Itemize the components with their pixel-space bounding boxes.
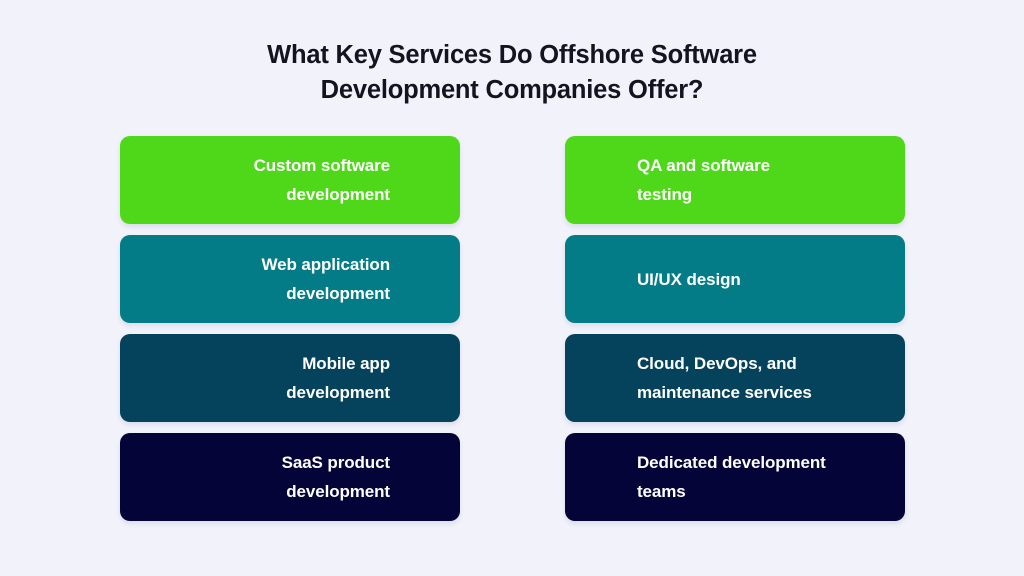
service-column-right: QA and software testing UI/UX design Clo… — [565, 136, 905, 521]
service-card-label: Cloud, DevOps, and maintenance services — [637, 349, 812, 407]
service-column-left: Custom software development Web applicat… — [120, 136, 460, 521]
service-card[interactable]: SaaS product development — [120, 433, 460, 521]
service-card[interactable]: UI/UX design — [565, 235, 905, 323]
service-card[interactable]: Dedicated development teams — [565, 433, 905, 521]
service-card[interactable]: Web application development — [120, 235, 460, 323]
service-card-label: SaaS product development — [282, 448, 390, 506]
service-card[interactable]: Cloud, DevOps, and maintenance services — [565, 334, 905, 422]
service-card[interactable]: Mobile app development — [120, 334, 460, 422]
service-card-label: Custom software development — [254, 151, 390, 209]
service-card-label: QA and software testing — [637, 151, 770, 209]
service-cards-grid: Custom software development Web applicat… — [120, 136, 905, 521]
service-card[interactable]: Custom software development — [120, 136, 460, 224]
service-card[interactable]: QA and software testing — [565, 136, 905, 224]
infographic-root: What Key Services Do Offshore Software D… — [0, 0, 1024, 576]
service-card-label: Web application development — [261, 250, 390, 308]
service-card-label: UI/UX design — [637, 265, 741, 294]
service-card-label: Dedicated development teams — [637, 448, 826, 506]
service-card-label: Mobile app development — [286, 349, 390, 407]
page-title: What Key Services Do Offshore Software D… — [0, 38, 1024, 108]
